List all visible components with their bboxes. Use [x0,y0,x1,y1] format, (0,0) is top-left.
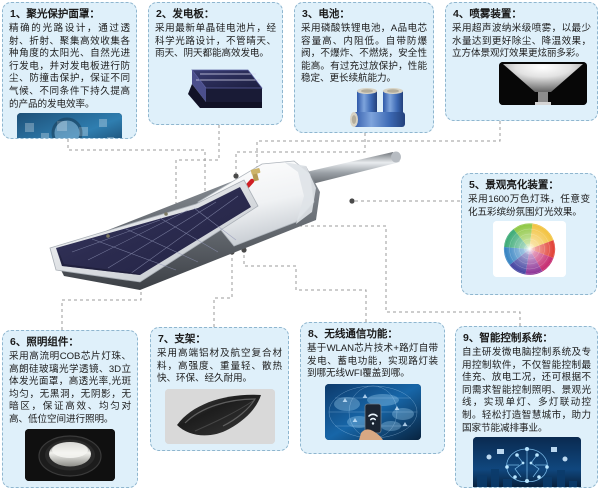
panel-5-title: 5、景观亮化装置： [469,179,590,192]
feature-panel-8[interactable]: 8、无线通信功能： 基于WLAN芯片技术+路灯自带发电、蓄电功能，实现路灯装到哪… [300,322,445,454]
panel-7-title: 7、支架： [158,333,282,346]
wifi-phone-globe-icon [325,384,421,440]
feature-panel-2[interactable]: 2、发电板： 采用最新单晶硅电池片，经科学光路设计，不管晴天、雨天、阴天都能高效… [148,2,283,125]
color-wheel-icon [493,221,566,277]
ultrasonic-mist-icon [499,62,587,105]
feature-panel-9[interactable]: 9、智能控制系统： 自主研发微电脑控制系统及专用控制软件，不仅智能控制最佳充、放… [455,326,598,488]
panel-2-title: 2、发电板： [156,8,276,21]
panel-3-body: 采用磷酸铁锂电池，A品电芯容量高、内阻低。自带防爆阀，不爆炸、不燃烧，安全性能高… [301,23,427,86]
lithium-cells-icon [337,86,423,130]
feature-panel-4[interactable]: 4、喷雾装置： 采用超声波纳米级喷雾，以最少水量达到更好除尘、降温效果，立方体景… [445,2,598,121]
magnifier-over-data-icon [17,113,122,139]
panel-5-body: 采用1600万色灯珠，任意变化五彩缤纷氛围灯光效果。 [468,194,590,219]
carbon-bracket-icon [165,389,275,444]
feature-panel-1[interactable]: 1、聚光保护面罩： 精确的光路设计，通过透射、折射、聚集高效收集各种角度的太阳光… [2,2,137,139]
panel-3-title: 3、电池： [302,8,427,21]
panel-9-title: 9、智能控制系统： [463,332,591,345]
feature-panel-6[interactable]: 6、照明组件： 采用高流明COB芯片灯珠、高朗硅玻璃光学透镜、3D立体发光面罩，… [2,330,138,488]
smart-city-brain-icon [473,437,581,488]
product-illustration-solar-street-lamp [48,140,408,320]
feature-panel-5[interactable]: 5、景观亮化装置： 采用1600万色灯珠，任意变化五彩缤纷氛围灯光效果。 [461,173,597,295]
panel-8-body: 基于WLAN芯片技术+路灯自带发电、蓄电功能，实现路灯装到哪无线WFI覆盖到哪。 [307,343,438,381]
panel-6-title: 6、照明组件： [10,336,131,349]
cob-lens-icon [25,429,115,481]
feature-panel-3[interactable]: 3、电池： 采用磷酸铁锂电池，A品电芯容量高、内阻低。自带防爆阀，不爆炸、不燃烧… [294,2,434,133]
panel-8-title: 8、无线通信功能： [308,328,438,341]
panel-6-body: 采用高流明COB芯片灯珠、高朗硅玻璃光学透镜、3D立体发光面罩，高透光率,光斑均… [9,351,131,427]
panel-4-title: 4、喷雾装置： [453,8,591,21]
panel-1-body: 精确的光路设计，通过透射、折射、聚集高效收集各种角度的太阳光、自然光进行发电，并… [9,23,130,111]
battery-cell-front [350,112,405,127]
solar-cell-icon [162,64,270,114]
panel-9-body: 自主研发微电脑控制系统及专用控制软件，不仅智能控制最佳充、放电工况，还可根据不同… [462,347,591,435]
panel-2-body: 采用最新单晶硅电池片，经科学光路设计，不管晴天、雨天、阴天都能高效发电。 [155,23,276,61]
infographic-stage: 1、聚光保护面罩： 精确的光路设计，通过透射、折射、聚集高效收集各种角度的太阳光… [0,0,600,493]
panel-4-body: 采用超声波纳米级喷雾，以最少水量达到更好除尘、降温效果，立方体景观灯效果更炫丽多… [452,23,591,61]
feature-panel-7[interactable]: 7、支架： 采用高端铝材及航空复合材料，高强度、重量轻、散热快、环保、经久耐用。 [150,327,289,451]
panel-7-body: 采用高端铝材及航空复合材料，高强度、重量轻、散热快、环保、经久耐用。 [157,348,282,386]
panel-1-title: 1、聚光保护面罩： [10,8,130,21]
